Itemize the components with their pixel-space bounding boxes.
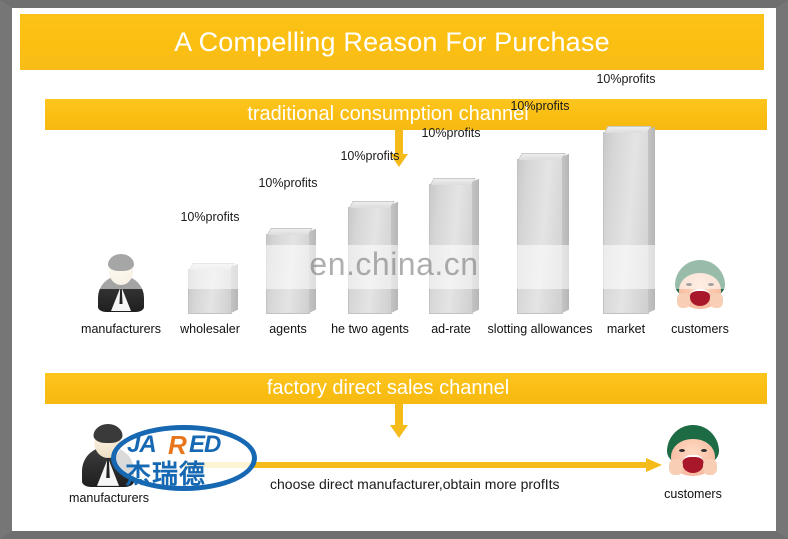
chart-label-ad-rate: ad-rate	[431, 322, 471, 336]
chart-profit-wholesaler: 10%profits	[180, 210, 239, 224]
logo-text-chinese: 杰瑞德	[125, 454, 206, 491]
chart-label-market: market	[607, 322, 645, 336]
businessman-icon	[98, 252, 144, 312]
chart-profit-ad-rate: 10%profits	[421, 126, 480, 140]
chart-bar-he-two-agents	[348, 207, 392, 314]
chart-label-manufacturers: manufacturers	[81, 322, 161, 336]
traditional-channel-chart: manufacturers 10%profits wholesaler 10%p…	[12, 148, 776, 338]
slide-canvas: A Compelling Reason For Purchase traditi…	[12, 8, 776, 531]
chart-profit-slotting-allowances: 10%profits	[510, 99, 569, 113]
bottom-label-customers: customers	[664, 487, 722, 501]
chart-column-he-two-agents: 10%profits he two agents	[322, 148, 418, 338]
chart-column-manufacturers: manufacturers	[66, 148, 176, 338]
customer-icon	[675, 260, 725, 312]
bottom-label-manufacturers: manufacturers	[69, 491, 149, 505]
chart-profit-he-two-agents: 10%profits	[340, 149, 399, 163]
section-banner-traditional-label: traditional consumption channel	[45, 103, 767, 126]
jared-logo: JA R ED 杰瑞德	[111, 425, 257, 491]
page-title: A Compelling Reason For Purchase	[174, 27, 610, 58]
chart-column-agents: 10%profits agents	[248, 148, 328, 338]
chart-bar-ad-rate	[429, 184, 473, 314]
section-banner-traditional: traditional consumption channel	[45, 99, 767, 130]
chart-label-slotting-allowances: slotting allowances	[488, 322, 593, 336]
chart-profit-agents: 10%profits	[258, 176, 317, 190]
chart-label-wholesaler: wholesaler	[180, 322, 240, 336]
customer-icon-bottom	[667, 425, 719, 479]
chart-profit-market: 10%profits	[596, 72, 655, 86]
section-banner-factory-label: factory direct sales channel	[45, 377, 767, 400]
chart-column-customers: customers	[650, 148, 750, 338]
chart-label-customers: customers	[671, 322, 729, 336]
chart-label-he-two-agents: he two agents	[331, 322, 409, 336]
chart-label-agents: agents	[269, 322, 307, 336]
tagline-text: choose direct manufacturer,obtain more p…	[270, 476, 559, 492]
title-banner: A Compelling Reason For Purchase	[20, 14, 764, 70]
watermark-edge-right	[776, 482, 788, 526]
section-banner-factory: factory direct sales channel	[45, 373, 767, 404]
chart-bar-agents	[266, 234, 310, 314]
watermark-edge-left	[0, 482, 12, 526]
chart-column-wholesaler: 10%profits wholesaler	[162, 148, 258, 338]
chart-column-slotting-allowances: 10%profits slotting allowances	[476, 148, 604, 338]
chart-bar-wholesaler	[188, 269, 232, 314]
chart-bar-slotting-allowances	[517, 159, 563, 314]
chart-bar-market	[603, 132, 649, 314]
image-frame: A Compelling Reason For Purchase traditi…	[0, 0, 788, 539]
